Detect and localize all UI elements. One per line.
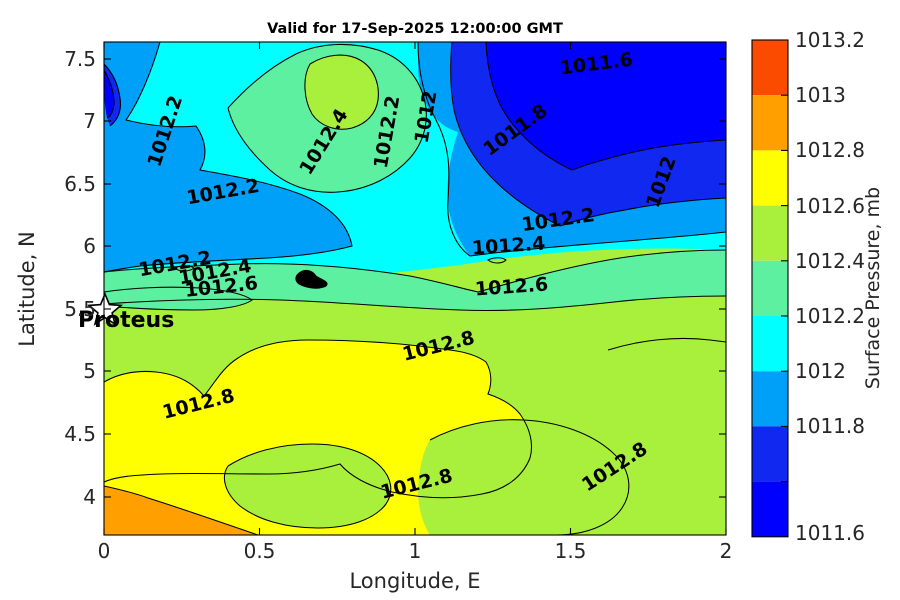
colorbar-tick-label: 1011.6 — [795, 521, 865, 545]
colorbar-tick-label: 1012 — [795, 359, 846, 383]
y-tick-label-2: 5 — [83, 359, 96, 383]
colorbar-swatch-1011.6 — [752, 482, 788, 537]
colorbar-tick-label: 1012.2 — [795, 304, 865, 328]
y-tick-label-7: 7.5 — [64, 47, 96, 71]
colorbar-tick-label: 1011.8 — [795, 414, 865, 438]
y-tick-label-3: 5.5 — [64, 297, 96, 321]
colorbar-tick-label: 1013.2 — [795, 28, 865, 52]
colorbar-swatch-1012.4 — [752, 261, 788, 316]
x-tick-label-4: 2 — [720, 539, 733, 563]
colorbar-swatch-1011.8 — [752, 426, 788, 481]
colorbar-tick-label: 1013 — [795, 83, 846, 107]
colorbar-swatch-1013 — [752, 95, 788, 150]
x-tick-label-1: 0.5 — [244, 539, 276, 563]
colorbar-swatch-1012.2 — [752, 316, 788, 371]
y-tick-label-1: 4.5 — [64, 422, 96, 446]
colorbar-tick-label: 1012.8 — [795, 138, 865, 162]
colorbar-swatch-1012.8 — [752, 150, 788, 205]
x-tick-label-3: 1.5 — [555, 539, 587, 563]
colorbar-swatch-1013.2 — [752, 40, 788, 95]
colorbar-title: Surface Pressure, mb — [862, 187, 884, 389]
y-tick-label-5: 6.5 — [64, 172, 96, 196]
contour-figure: Valid for 17-Sep-2025 12:00:00 GMT — [0, 0, 900, 600]
colorbar-tick-label: 1012.4 — [795, 249, 865, 273]
y-tick-label-4: 6 — [83, 234, 96, 258]
colorbar-swatch-1012 — [752, 371, 788, 426]
y-axis-label: Latitude, N — [15, 231, 39, 347]
chart-title: Valid for 17-Sep-2025 12:00:00 GMT — [267, 21, 563, 37]
colorbar-swatch-1012.6 — [752, 206, 788, 261]
x-tick-label-2: 1 — [409, 539, 422, 563]
x-tick-label-0: 0 — [98, 539, 111, 563]
y-tick-label-6: 7 — [83, 109, 96, 133]
colorbar-tick-label: 1012.6 — [795, 194, 865, 218]
y-tick-label-0: 4 — [83, 485, 96, 509]
x-axis-label: Longitude, E — [349, 569, 480, 593]
